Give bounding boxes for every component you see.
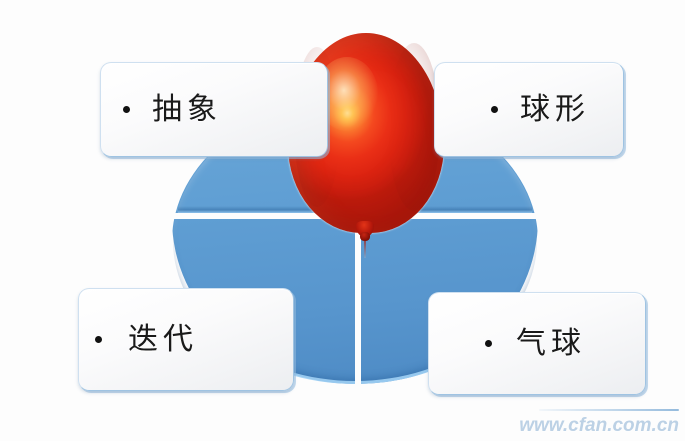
balloon-knot: [360, 232, 370, 241]
card-label: 气球: [516, 329, 586, 359]
card-label: 抽象: [152, 95, 222, 125]
watermark-rule: [539, 409, 679, 411]
bullet-icon: [491, 106, 498, 113]
card-content: 气球: [485, 329, 586, 359]
label-card-top-left[interactable]: 抽象: [100, 62, 328, 157]
balloon-right-lobe-shading: [388, 43, 440, 211]
card-content: 球形: [491, 95, 590, 125]
bullet-icon: [123, 106, 130, 113]
balloon-string: [364, 239, 366, 258]
bullet-icon: [95, 336, 102, 343]
label-card-top-right[interactable]: 球形: [434, 62, 624, 157]
card-label: 球形: [520, 95, 590, 125]
slide-canvas: 抽象 球形 迭代 气球 www.cfan.com.cn: [0, 0, 685, 441]
watermark: www.cfan.com.cn: [519, 415, 679, 437]
card-content: 抽象: [123, 95, 222, 125]
card-content: 迭代: [95, 325, 198, 355]
label-card-bottom-left[interactable]: 迭代: [78, 288, 294, 391]
bullet-icon: [485, 340, 492, 347]
card-label: 迭代: [128, 325, 198, 355]
label-card-bottom-right[interactable]: 气球: [428, 292, 646, 395]
